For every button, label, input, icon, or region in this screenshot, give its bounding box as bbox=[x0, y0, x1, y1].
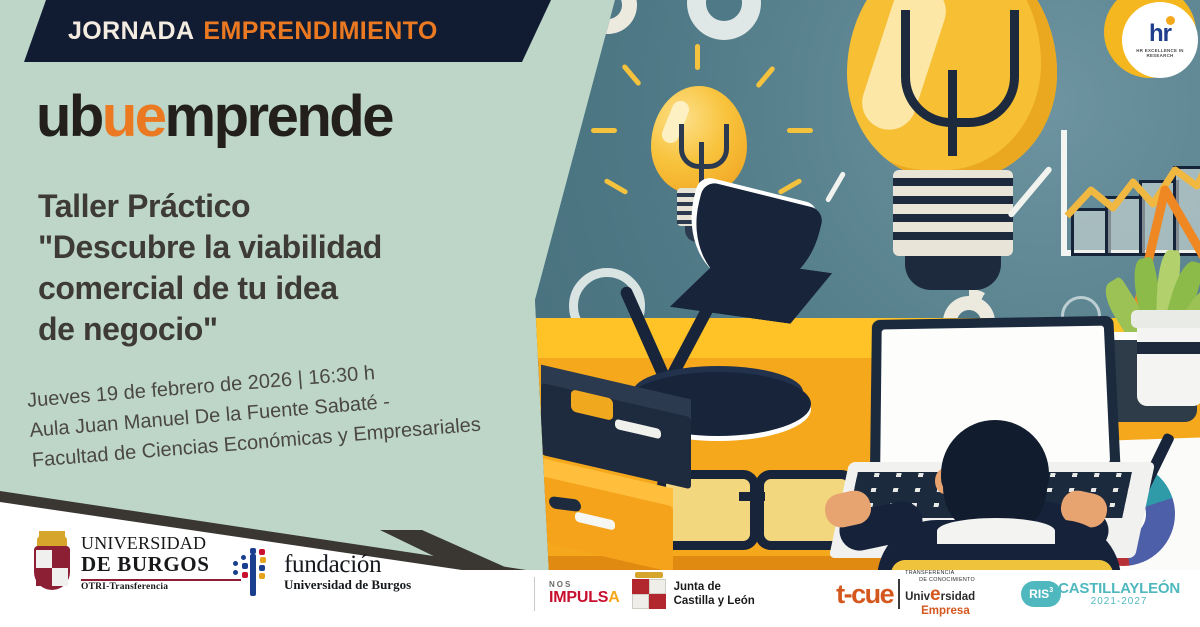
tcue-univ-e: e bbox=[930, 584, 941, 605]
banner-text: JORNADAEMPRENDIMIENTO bbox=[68, 19, 438, 44]
large-lightbulb-filament bbox=[901, 10, 1019, 127]
gear-icon bbox=[687, 0, 761, 40]
ubu-wordmark: UNIVERSIDAD DE BURGOS OTRI-Transferencia bbox=[81, 534, 241, 593]
ris3-mark: RIS bbox=[1029, 588, 1049, 600]
junta-castilla-leon-logo: Junta de Castilla y León bbox=[630, 577, 755, 611]
brand-part-mprende: mprende bbox=[165, 84, 392, 149]
ubu-line-1: UNIVERSIDAD bbox=[81, 534, 241, 552]
junta-line-2: Castilla y León bbox=[674, 594, 755, 608]
light-ray bbox=[695, 44, 700, 70]
junta-crown-icon bbox=[635, 572, 663, 578]
coffee-cup-band bbox=[1137, 342, 1200, 354]
person-collar bbox=[937, 518, 1055, 544]
tcue-empresa-e: E bbox=[921, 605, 929, 617]
tcue-mark: t-cue bbox=[836, 581, 893, 608]
title-line-4: de negocio" bbox=[38, 309, 508, 350]
large-lightbulb-base bbox=[905, 256, 1001, 290]
tcue-small-1: TRANSFERENCIA bbox=[905, 570, 975, 577]
ubu-shield-quarter bbox=[36, 550, 52, 568]
lightbulb-filament bbox=[679, 124, 729, 169]
fundacion-line-2: Universidad de Burgos bbox=[284, 577, 411, 593]
coffee-cup bbox=[1137, 318, 1200, 406]
sponsor-divider bbox=[534, 577, 535, 611]
illustration bbox=[505, 0, 1200, 573]
title-line-3: comercial de tu idea bbox=[38, 268, 508, 309]
ubu-shield-quarter bbox=[52, 550, 68, 568]
fundacion-wordmark: fundación Universidad de Burgos bbox=[284, 552, 411, 593]
brand-part-ub: ub bbox=[36, 84, 102, 149]
tcue-small-2: DE CONOCIMIENTO bbox=[919, 577, 975, 584]
tcue-divider bbox=[898, 579, 900, 609]
fundacion-line-1: fundación bbox=[284, 552, 411, 577]
ubu-line-3: OTRI-Transferencia bbox=[81, 583, 241, 593]
nos-impulsa-word: IMPULS bbox=[549, 589, 608, 606]
coffee-cup-lid bbox=[1131, 310, 1200, 328]
ubu-divider-rule bbox=[81, 579, 241, 581]
ubu-shield-quarter bbox=[36, 568, 52, 586]
hr-badge-caption: HR EXCELLENCE IN RESEARCH bbox=[1122, 49, 1198, 59]
workshop-title: Taller Práctico "Descubre la viabilidad … bbox=[38, 186, 508, 350]
title-line-1: Taller Práctico bbox=[38, 186, 508, 227]
title-line-2: "Descubre la viabilidad bbox=[38, 227, 508, 268]
hr-badge-dot-icon bbox=[1166, 16, 1175, 25]
ubu-shield-icon bbox=[30, 534, 74, 592]
sponsor-strip: NOS IMPULSA Junta de Castilla y León t-c… bbox=[520, 570, 1180, 618]
ris3-years: 2021-2027 bbox=[1058, 596, 1180, 607]
hr-excellence-badge: hr HR EXCELLENCE IN RESEARCH bbox=[1122, 2, 1198, 78]
ubu-shield-quarter bbox=[52, 568, 68, 586]
nos-impulsa-accent: A bbox=[608, 589, 619, 606]
ris3-badge: RIS3 bbox=[1021, 581, 1061, 607]
nos-impulsa-logo: NOS IMPULSA bbox=[549, 581, 620, 607]
tcue-big-1: Universidad bbox=[905, 585, 975, 606]
banner-word-jornada: JORNADA bbox=[68, 17, 194, 45]
ris3-castilla-leon-logo: RIS3 CASTILLAYLEÓN 2021-2027 bbox=[1021, 581, 1180, 607]
tcue-empresa-suffix: mpresa bbox=[929, 605, 970, 617]
large-lightbulb-neck bbox=[893, 170, 1013, 256]
ubu-line-2: DE BURGOS bbox=[81, 552, 241, 576]
nos-impulsa-line-1: NOS bbox=[549, 581, 620, 589]
hr-badge-mark: hr bbox=[1149, 22, 1171, 46]
banner-word-emprendimiento: EMPRENDIMIENTO bbox=[203, 17, 437, 45]
tcue-logo: t-cue TRANSFERENCIA DE CONOCIMIENTO Univ… bbox=[836, 570, 975, 618]
light-ray bbox=[591, 128, 617, 133]
gear-icon bbox=[579, 0, 637, 34]
ris3-wordmark: CASTILLAYLEÓN 2021-2027 bbox=[1058, 581, 1180, 607]
nos-impulsa-line-2: IMPULSA bbox=[549, 589, 620, 607]
tcue-univ-suffix: rsidad bbox=[941, 591, 976, 603]
ris3-region: CASTILLAYLEÓN bbox=[1058, 581, 1180, 596]
light-ray bbox=[787, 128, 813, 133]
ubuemprende-logo: ubuemprende bbox=[36, 88, 392, 146]
junta-shield-icon bbox=[630, 577, 668, 611]
brand-part-ue: ue bbox=[102, 84, 165, 149]
glasses-bridge bbox=[739, 492, 765, 501]
tcue-univ-prefix: Univ bbox=[905, 591, 930, 603]
tcue-wordmark: TRANSFERENCIA DE CONOCIMIENTO Universida… bbox=[905, 570, 975, 618]
fundacion-ubu-logo: fundación Universidad de Burgos bbox=[230, 548, 411, 596]
event-type-banner: JORNADAEMPRENDIMIENTO bbox=[24, 0, 551, 62]
event-details: Jueves 19 de febrero de 2026 | 16:30 h A… bbox=[26, 343, 571, 476]
junta-wordmark: Junta de Castilla y León bbox=[674, 580, 755, 609]
fundacion-tree-icon bbox=[230, 548, 276, 596]
universidad-de-burgos-logo: UNIVERSIDAD DE BURGOS OTRI-Transferencia bbox=[30, 534, 241, 593]
ris3-superscript: 3 bbox=[1049, 587, 1053, 594]
junta-line-1: Junta de bbox=[674, 580, 755, 594]
tcue-big-2: Empresa bbox=[921, 605, 975, 618]
event-poster: hr HR EXCELLENCE IN RESEARCH JORNADAEMPR… bbox=[0, 0, 1200, 627]
